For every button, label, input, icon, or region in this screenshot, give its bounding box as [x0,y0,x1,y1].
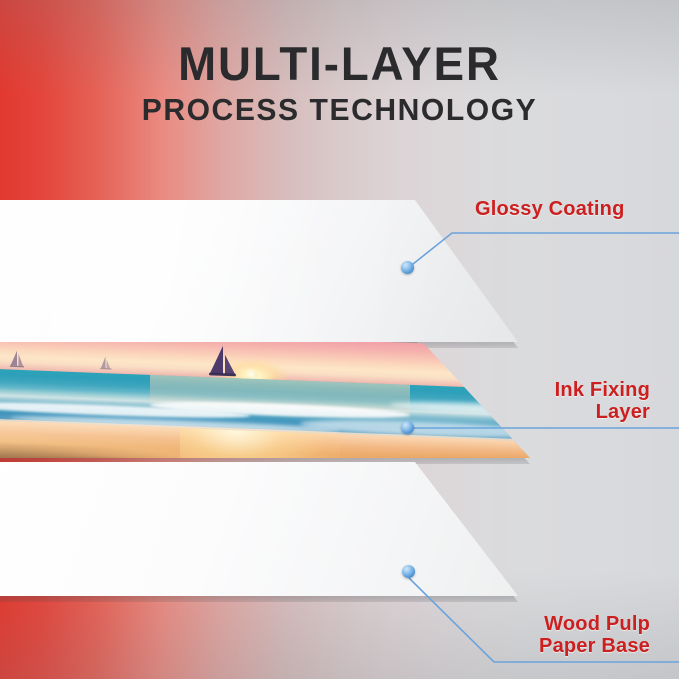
infographic-canvas: MULTI-LAYER PROCESS TECHNOLOGY [0,0,679,679]
leader-line-wood-pulp-paper-base [0,0,679,679]
callout-label-wood-pulp-paper-base: Wood Pulp Paper Base [400,613,650,658]
leader-dot-wood-pulp-paper-base[interactable] [402,565,415,578]
callout-wood-pulp-paper-base: Wood Pulp Paper Base [0,0,679,679]
